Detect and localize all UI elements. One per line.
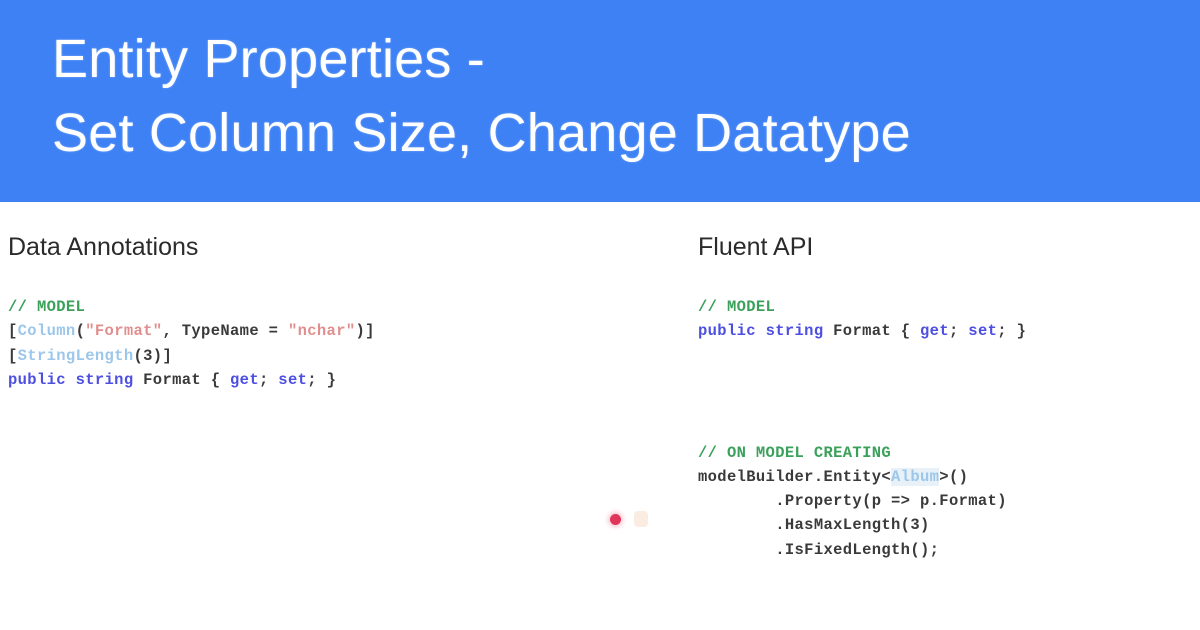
- cursor-highlight-glow: [634, 511, 648, 527]
- mouse-cursor-marker: [610, 514, 621, 525]
- code-attribute-stringlength: StringLength: [18, 347, 134, 365]
- code-block-on-model-creating: // ON MODEL CREATING modelBuilder.Entity…: [698, 441, 1193, 562]
- code-line-hasmaxlength-call: .HasMaxLength(3): [698, 516, 930, 534]
- code-line-property-call: .Property(p => p.Format): [698, 492, 1007, 510]
- code-bracket-open-column: [: [8, 322, 18, 340]
- code-close-column: )]: [356, 322, 375, 340]
- code-block-data-annotations: // MODEL [Column("Format", TypeName = "n…: [8, 295, 668, 392]
- slide-content-area: Data Annotations // MODEL [Column("Forma…: [0, 202, 1200, 630]
- code-entity-prefix: modelBuilder.Entity<: [698, 468, 891, 486]
- code-string-nchar: "nchar": [288, 322, 356, 340]
- code-block-fluent-model: // MODEL public string Format { get; set…: [698, 295, 1193, 344]
- code-keyword-get-right: get: [920, 322, 949, 340]
- code-comment-on-model-creating: // ON MODEL CREATING: [698, 444, 891, 462]
- code-keyword-public-right: public: [698, 322, 756, 340]
- code-attribute-column: Column: [18, 322, 76, 340]
- page-title-line-1: Entity Properties -: [52, 22, 1200, 96]
- code-paren-open-column: (: [76, 322, 86, 340]
- heading-data-annotations: Data Annotations: [8, 202, 668, 262]
- code-close-stringlength: (3)]: [133, 347, 172, 365]
- heading-fluent-api: Fluent API: [698, 202, 1193, 262]
- code-string-format: "Format": [85, 322, 162, 340]
- code-keyword-string-right: string: [766, 322, 824, 340]
- code-comment-model-right: // MODEL: [698, 298, 775, 316]
- code-semicolon-1-right: ;: [949, 322, 968, 340]
- code-property-name-right: Format {: [824, 322, 921, 340]
- page-title-line-2: Set Column Size, Change Datatype: [52, 96, 1200, 170]
- slide-header-banner: Entity Properties - Set Column Size, Cha…: [0, 0, 1200, 202]
- code-property-name-left: Format {: [134, 371, 231, 389]
- code-generic-album: Album: [891, 468, 939, 486]
- code-keyword-set-right: set: [968, 322, 997, 340]
- code-keyword-get-left: get: [230, 371, 259, 389]
- code-space-right: [756, 322, 766, 340]
- code-typename-label: , TypeName =: [162, 322, 287, 340]
- code-keyword-set-left: set: [278, 371, 307, 389]
- code-keyword-string-left: string: [76, 371, 134, 389]
- code-space-left: [66, 371, 76, 389]
- code-semicolon-2-left: ; }: [307, 371, 336, 389]
- code-line-isfixedlength-call: .IsFixedLength();: [698, 541, 939, 559]
- code-semicolon-1-left: ;: [259, 371, 278, 389]
- column-fluent-api: Fluent API // MODEL public string Format…: [698, 202, 1193, 562]
- code-entity-suffix: >(): [939, 468, 968, 486]
- code-bracket-open-stringlength: [: [8, 347, 18, 365]
- code-semicolon-2-right: ; }: [997, 322, 1026, 340]
- code-keyword-public-left: public: [8, 371, 66, 389]
- column-data-annotations: Data Annotations // MODEL [Column("Forma…: [8, 202, 668, 392]
- code-comment-model-left: // MODEL: [8, 298, 85, 316]
